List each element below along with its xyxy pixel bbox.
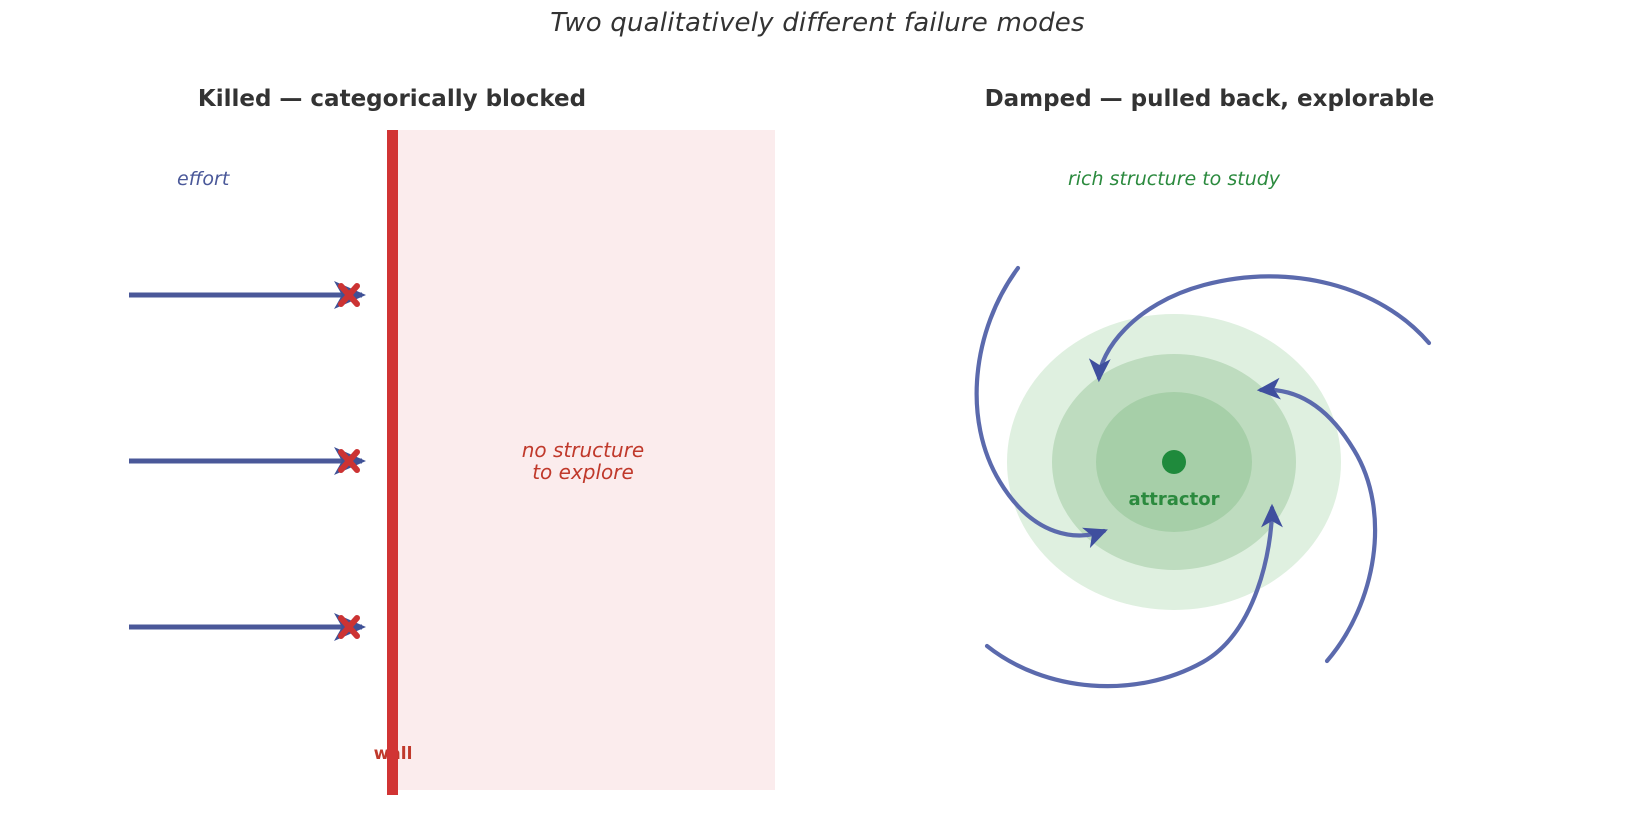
- effort-label: effort: [177, 168, 231, 190]
- rich-structure-label: rich structure to study: [1068, 168, 1281, 190]
- left-panel-group: effort no structure: [129, 130, 775, 795]
- wall-bar-overlay: [387, 730, 398, 795]
- no-structure-label-line2: to explore: [532, 460, 634, 484]
- attractor-point: [1162, 450, 1186, 474]
- figure-canvas: Two qualitatively different failure mode…: [0, 0, 1635, 840]
- wall-bar: [387, 130, 398, 795]
- right-panel-group: rich structure to study attractor: [977, 168, 1429, 686]
- no-structure-label-line1: no structure: [522, 438, 644, 462]
- diagram-svg: effort no structure: [0, 0, 1635, 840]
- attractor-label: attractor: [1129, 489, 1220, 510]
